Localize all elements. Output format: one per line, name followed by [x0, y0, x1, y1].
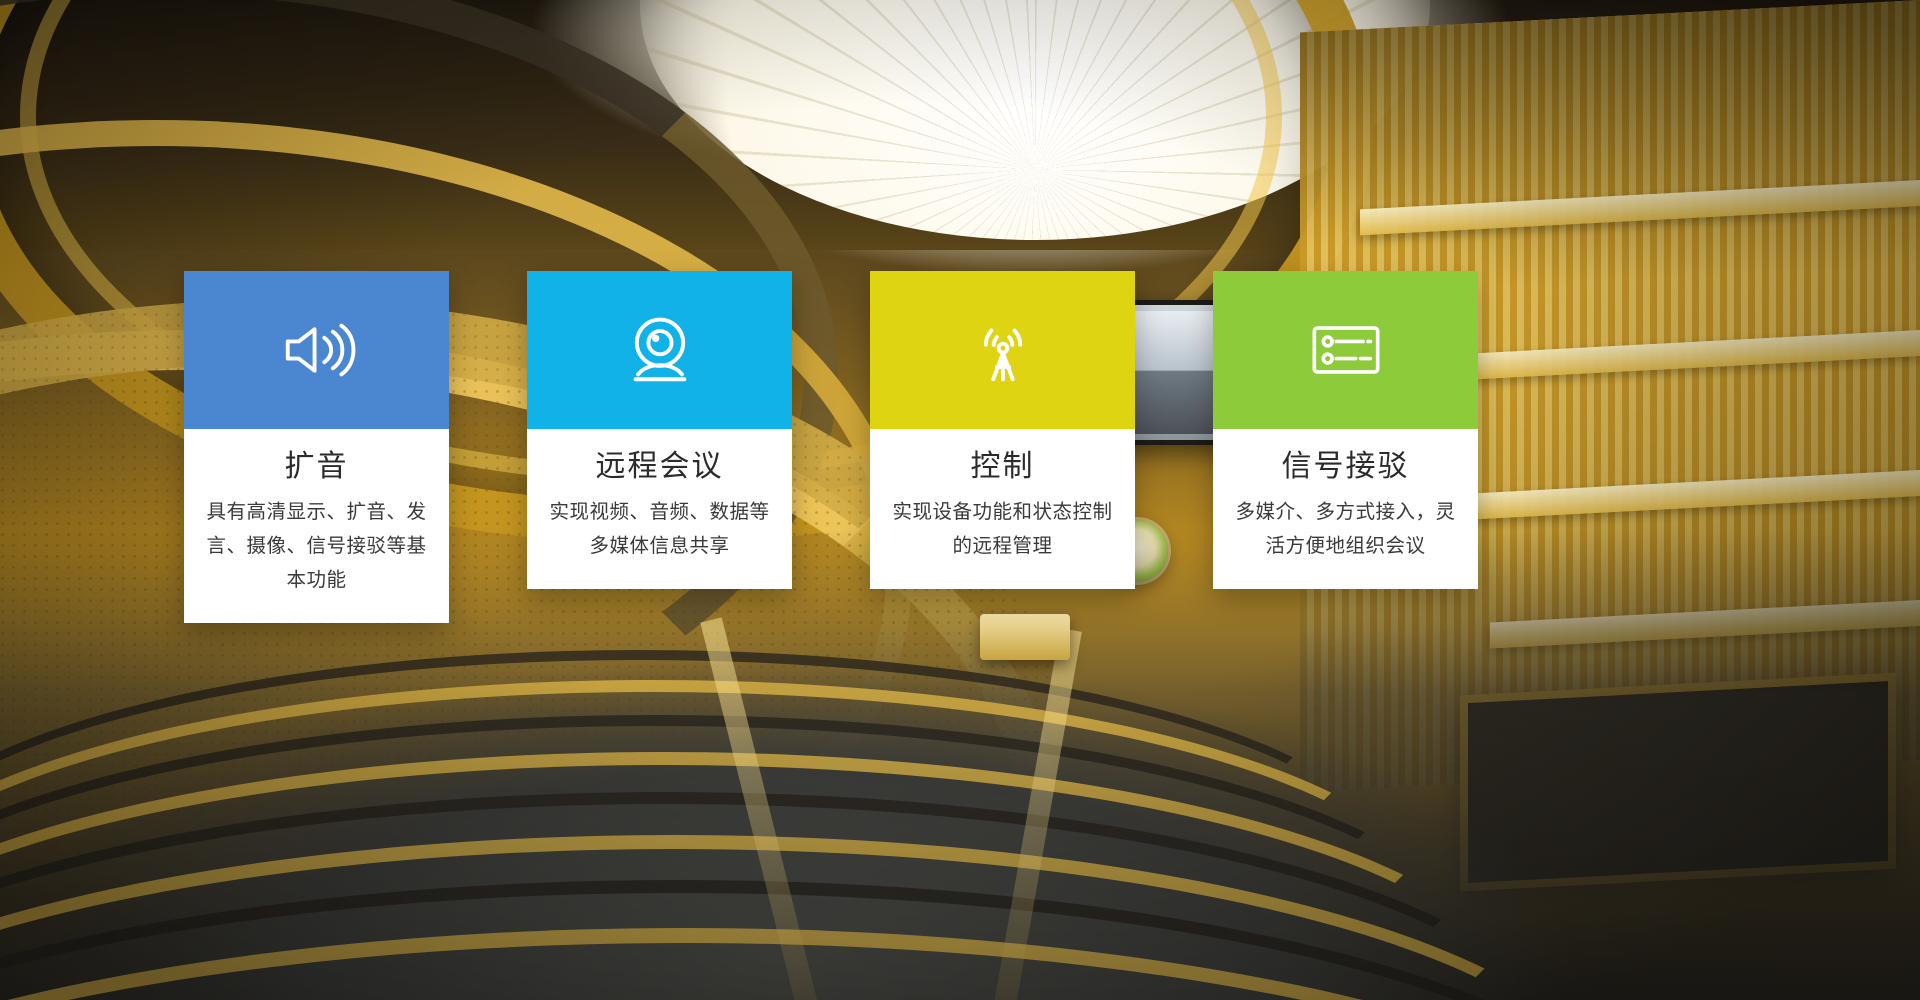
feature-card-signal-access[interactable]: 信号接驳 多媒介、多方式接入，灵活方便地组织会议: [1213, 271, 1478, 589]
feature-card-list: 扩音 具有高清显示、扩音、发言、摄像、信号接驳等基本功能 远程会议 实现视频、音…: [184, 271, 1478, 623]
card-description: 具有高清显示、扩音、发言、摄像、信号接驳等基本功能: [204, 495, 429, 597]
card-body: 控制 实现设备功能和状态控制的远程管理: [870, 429, 1135, 589]
card-icon-area: [184, 271, 449, 429]
card-title: 控制: [890, 449, 1115, 485]
card-description: 实现视频、音频、数据等多媒体信息共享: [547, 495, 772, 563]
card-title: 扩音: [204, 449, 429, 485]
page-stage: 扩音 具有高清显示、扩音、发言、摄像、信号接驳等基本功能 远程会议 实现视频、音…: [0, 0, 1920, 1000]
card-icon-area: [870, 271, 1135, 429]
feature-card-control[interactable]: 控制 实现设备功能和状态控制的远程管理: [870, 271, 1135, 589]
webcam-icon: [621, 311, 699, 389]
card-title: 信号接驳: [1233, 449, 1458, 485]
feature-card-remote-conference[interactable]: 远程会议 实现视频、音频、数据等多媒体信息共享: [527, 271, 792, 589]
card-description: 多媒介、多方式接入，灵活方便地组织会议: [1233, 495, 1458, 563]
card-body: 远程会议 实现视频、音频、数据等多媒体信息共享: [527, 429, 792, 589]
card-description: 实现设备功能和状态控制的远程管理: [890, 495, 1115, 563]
card-icon-area: [1213, 271, 1478, 429]
card-icon-area: [527, 271, 792, 429]
card-body: 扩音 具有高清显示、扩音、发言、摄像、信号接驳等基本功能: [184, 429, 449, 623]
card-body: 信号接驳 多媒介、多方式接入，灵活方便地组织会议: [1213, 429, 1478, 589]
signal-tower-icon: [964, 311, 1042, 389]
signal-panel-icon: [1307, 311, 1385, 389]
card-title: 远程会议: [547, 449, 772, 485]
speaker-volume-icon: [278, 311, 356, 389]
feature-card-amplification[interactable]: 扩音 具有高清显示、扩音、发言、摄像、信号接驳等基本功能: [184, 271, 449, 623]
